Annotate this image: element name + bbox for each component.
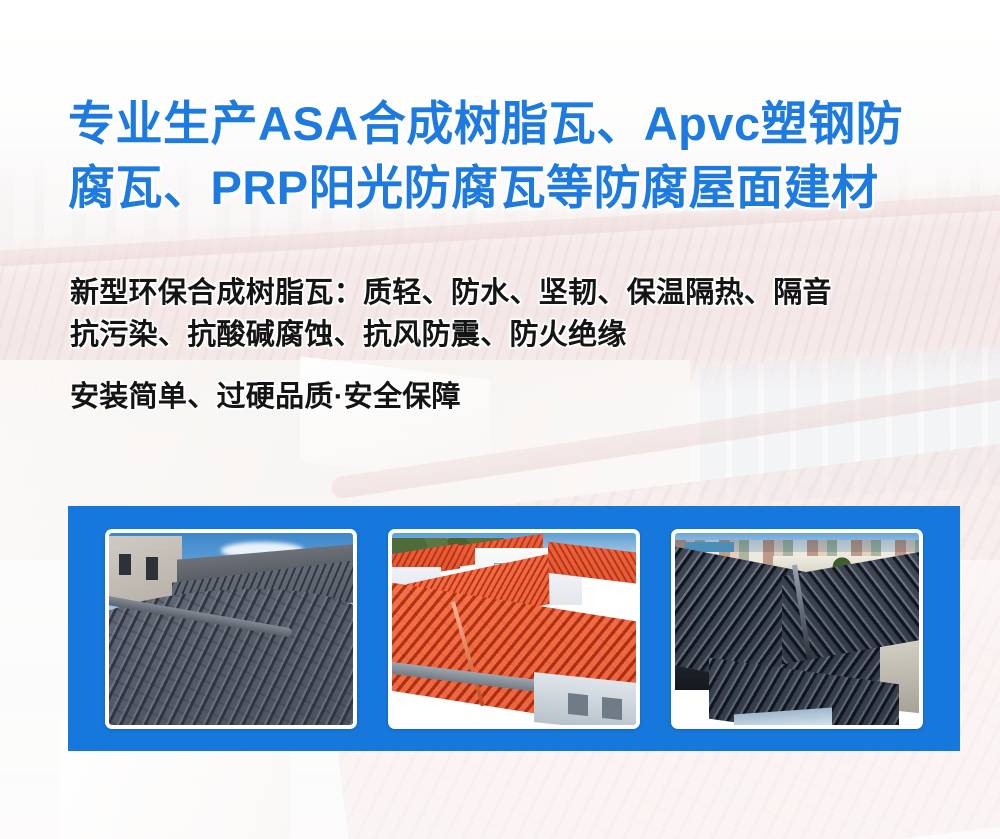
window-shape — [119, 554, 131, 575]
window-shape — [146, 557, 158, 580]
black-resin-tile-roof-photo[interactable] — [671, 529, 923, 729]
red-resin-tile-roof-photo[interactable] — [388, 529, 640, 729]
photo-gallery-panel — [68, 506, 960, 751]
black-roof-photo-inner — [675, 533, 919, 725]
banner-content: 专业生产ASA合成树脂瓦、Apvc塑钢防 腐瓦、PRP阳光防腐瓦等防腐屋面建材 … — [0, 0, 1000, 839]
subheadline-line-1: 新型环保合成树脂瓦：质轻、防水、坚韧、保温隔热、隔音 — [70, 272, 970, 314]
gray-roof-photo-inner — [109, 533, 353, 725]
subheadline-line-2: 抗污染、抗酸碱腐蚀、抗风防震、防火绝缘 — [70, 314, 970, 356]
gray-resin-tile-roof-photo[interactable] — [105, 529, 357, 729]
headline-line-2: 腐瓦、PRP阳光防腐瓦等防腐屋面建材 — [68, 156, 948, 220]
product-banner: 专业生产ASA合成树脂瓦、Apvc塑钢防 腐瓦、PRP阳光防腐瓦等防腐屋面建材 … — [0, 0, 1000, 839]
headline-block: 专业生产ASA合成树脂瓦、Apvc塑钢防 腐瓦、PRP阳光防腐瓦等防腐屋面建材 — [68, 92, 948, 220]
red-roof-photo-inner — [392, 533, 636, 725]
window-shape — [602, 697, 622, 720]
subheadline-line-3: 安装简单、过硬品质·安全保障 — [70, 376, 970, 418]
headline-line-1: 专业生产ASA合成树脂瓦、Apvc塑钢防 — [68, 92, 948, 156]
subheadline-block: 新型环保合成树脂瓦：质轻、防水、坚韧、保温隔热、隔音 抗污染、抗酸碱腐蚀、抗风防… — [70, 272, 970, 418]
window-shape — [568, 693, 588, 716]
